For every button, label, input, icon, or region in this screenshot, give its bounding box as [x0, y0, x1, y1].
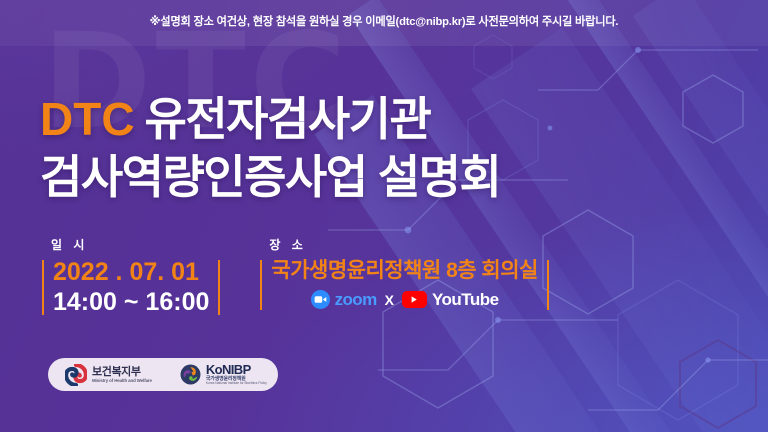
video-camera-glyph: [314, 295, 327, 304]
zoom-camera-icon: [311, 290, 330, 309]
title-highlight-dtc: DTC: [40, 93, 135, 145]
date-time-value: 14:00 ~ 16:00: [53, 288, 209, 318]
platform-row: zoom X YouTube: [271, 288, 538, 312]
info-venue-column: 장 소 국가생명윤리정책원 8층 회의실 zoom X: [260, 236, 549, 312]
play-triangle-glyph: [410, 295, 418, 304]
konibp-name-en: Korea National Institute for Bioethics P…: [206, 382, 267, 386]
taegeuk-icon: [65, 364, 87, 386]
venue-value: 국가생명윤리정책원 8층 회의실: [271, 258, 538, 285]
info-date-column: 일 시 2022 . 07. 01 14:00 ~ 16:00: [42, 236, 220, 317]
date-value: 2022 . 07. 01: [53, 258, 209, 288]
zoom-wordmark: zoom: [335, 290, 377, 310]
info-row: 일 시 2022 . 07. 01 14:00 ~ 16:00 장 소 국가생명…: [42, 236, 549, 317]
network-pattern-icon: [288, 0, 768, 432]
pinwheel-icon: [180, 364, 201, 385]
title-line-2: 검사역량인증사업 설명회: [40, 154, 500, 200]
konibp-logo: KoNIBP 국가생명윤리정책원 Korea National Institut…: [180, 363, 267, 386]
title-line-1: DTC유전자검사기관: [40, 96, 500, 142]
footer-logo-pill: 보건복지부 Ministry of Health and Welfare KoN…: [48, 358, 278, 391]
mohw-name-en: Ministry of Health and Welfare: [92, 378, 152, 383]
konibp-name: KoNIBP: [206, 363, 267, 376]
venue-framed-box: 국가생명윤리정책원 8층 회의실 zoom X: [260, 258, 549, 312]
mohw-name-ko: 보건복지부: [92, 366, 152, 378]
platform-separator: X: [385, 292, 394, 308]
youtube-wordmark: YouTube: [432, 290, 499, 310]
title-line-1-rest: 유전자검사기관: [145, 93, 431, 145]
konibp-text: KoNIBP 국가생명윤리정책원 Korea National Institut…: [206, 363, 267, 386]
date-framed-box: 2022 . 07. 01 14:00 ~ 16:00: [42, 258, 220, 317]
mohw-text: 보건복지부 Ministry of Health and Welfare: [92, 366, 152, 383]
youtube-logo: YouTube: [402, 290, 499, 310]
top-notice: ※설명회 장소 여건상, 현장 참석을 원하실 경우 이메일(dtc@nibp.…: [0, 13, 768, 29]
youtube-play-icon: [402, 291, 427, 308]
venue-label: 장 소: [260, 236, 549, 253]
zoom-logo: zoom: [311, 290, 377, 310]
poster-canvas: DTC: [0, 0, 768, 432]
mohw-logo: 보건복지부 Ministry of Health and Welfare: [65, 364, 152, 386]
title-block: DTC유전자검사기관 검사역량인증사업 설명회: [40, 96, 500, 200]
date-label: 일 시: [42, 236, 220, 253]
